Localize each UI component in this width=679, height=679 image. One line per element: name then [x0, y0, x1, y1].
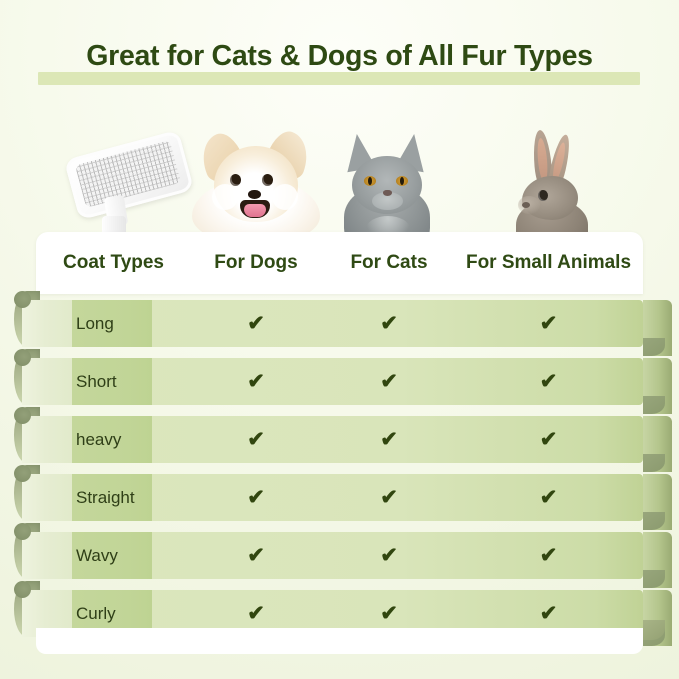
cell-check-dogs: ✔: [188, 358, 324, 405]
slicker-brush-image: [62, 128, 212, 240]
rabbit-nose: [522, 202, 530, 208]
cell-check-small-animals: ✔: [454, 416, 643, 463]
cell-check-dogs: ✔: [188, 532, 324, 579]
table-row: Straight✔✔✔: [0, 474, 679, 521]
dog-nose: [248, 190, 261, 199]
ribbon-fold-left-band: [22, 358, 74, 405]
ribbon-fold-left-cap: [14, 523, 31, 540]
table-row: Long✔✔✔: [0, 300, 679, 347]
rabbit-image: [496, 128, 606, 240]
cell-check-small-animals: ✔: [454, 474, 643, 521]
cell-check-small-animals: ✔: [454, 300, 643, 347]
cell-check-cats: ✔: [324, 474, 454, 521]
cell-check-dogs: ✔: [188, 474, 324, 521]
table-row: heavy✔✔✔: [0, 416, 679, 463]
row-label: Wavy: [76, 532, 166, 579]
column-header-for-dogs: For Dogs: [188, 252, 324, 274]
ribbon-fold-left-band: [22, 300, 74, 347]
dog-cheek-right: [272, 184, 298, 210]
title-block: Great for Cats & Dogs of All Fur Types: [0, 40, 679, 92]
cat-pupil-right: [400, 177, 404, 185]
ribbon-fold-left-band: [22, 532, 74, 579]
page-title: Great for Cats & Dogs of All Fur Types: [0, 40, 679, 73]
dog-eye-left: [230, 174, 241, 186]
row-label: Straight: [76, 474, 166, 521]
ribbon-fold-left-band: [22, 416, 74, 463]
ribbon-fold-left-cap: [14, 465, 31, 482]
row-label: Short: [76, 358, 166, 405]
row-label: heavy: [76, 416, 166, 463]
table-header-row: Coat Types For Dogs For Cats For Small A…: [36, 232, 643, 294]
ribbon-fold-left-band: [22, 474, 74, 521]
row-label: Long: [76, 300, 166, 347]
cell-check-cats: ✔: [324, 300, 454, 347]
dog-tongue: [244, 204, 266, 217]
table-bottom-cap: [36, 628, 643, 654]
promo-infographic: Great for Cats & Dogs of All Fur Types: [0, 0, 679, 679]
rabbit-eye: [538, 190, 548, 201]
table-row: Short✔✔✔: [0, 358, 679, 405]
cell-check-cats: ✔: [324, 416, 454, 463]
column-header-coat-types: Coat Types: [36, 252, 188, 274]
table-row: Wavy✔✔✔: [0, 532, 679, 579]
cell-check-dogs: ✔: [188, 300, 324, 347]
cat-pupil-left: [368, 177, 372, 185]
cell-check-small-animals: ✔: [454, 532, 643, 579]
cell-check-cats: ✔: [324, 532, 454, 579]
dog-eye-right: [262, 174, 273, 186]
ribbon-fold-left-cap: [14, 581, 31, 598]
cell-check-small-animals: ✔: [454, 358, 643, 405]
cat-nose: [383, 190, 392, 196]
cat-image: [334, 130, 440, 240]
column-header-for-cats: For Cats: [324, 252, 454, 274]
dog-pomeranian-image: [196, 126, 316, 240]
ribbon-fold-left-cap: [14, 349, 31, 366]
dog-cheek-left: [212, 184, 238, 210]
cell-check-dogs: ✔: [188, 416, 324, 463]
cell-check-cats: ✔: [324, 358, 454, 405]
title-highlight-bar: [38, 72, 640, 85]
column-header-small-animals: For Small Animals: [454, 252, 643, 274]
brush-rim: [64, 130, 194, 220]
ribbon-fold-left-cap: [14, 407, 31, 424]
ribbon-fold-left-cap: [14, 291, 31, 308]
